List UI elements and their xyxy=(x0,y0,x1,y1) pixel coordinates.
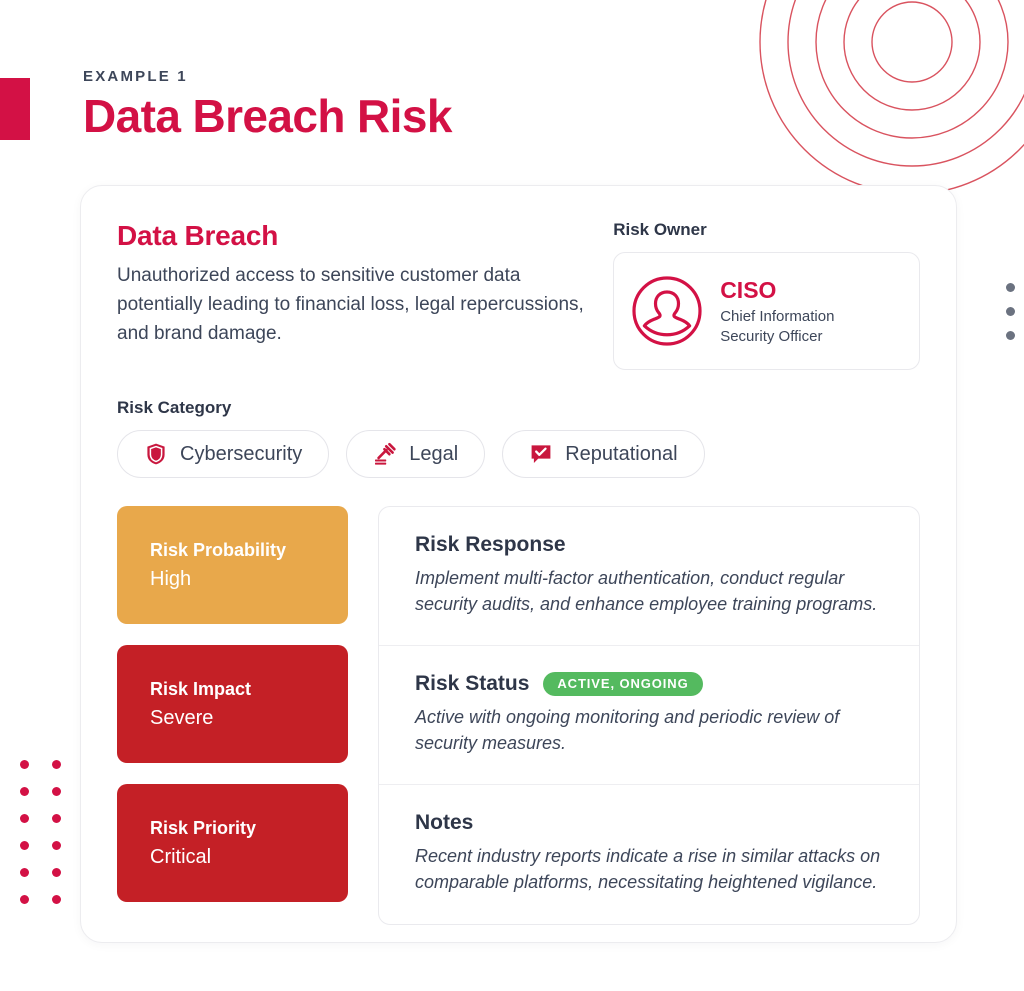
chip-reputational[interactable]: Reputational xyxy=(502,430,704,478)
detail-header: Notes xyxy=(415,811,883,835)
risk-category-label: Risk Category xyxy=(117,398,920,418)
risk-detail-row: Risk Probability High Risk Impact Severe… xyxy=(117,506,920,925)
shield-icon xyxy=(144,442,168,466)
risk-description-block: Data Breach Unauthorized access to sensi… xyxy=(117,214,585,348)
page-header: EXAMPLE 1 Data Breach Risk xyxy=(83,68,452,142)
tile-value: Critical xyxy=(150,846,315,869)
risk-card: Data Breach Unauthorized access to sensi… xyxy=(80,185,957,943)
chip-legal[interactable]: Legal xyxy=(346,430,485,478)
chip-label: Legal xyxy=(409,443,458,466)
chip-label: Cybersecurity xyxy=(180,443,302,466)
tile-label: Risk Impact xyxy=(150,679,315,700)
risk-detail-panel: Risk Response Implement multi-factor aut… xyxy=(378,506,920,925)
dot-column-decoration-right xyxy=(1006,283,1015,355)
detail-body: Recent industry reports indicate a rise … xyxy=(415,843,883,895)
risk-name: Data Breach xyxy=(117,220,585,252)
chip-cybersecurity[interactable]: Cybersecurity xyxy=(117,430,329,478)
risk-category-block: Risk Category Cybersecurity xyxy=(117,398,920,478)
tile-risk-probability: Risk Probability High xyxy=(117,506,348,624)
speech-bubble-check-icon xyxy=(529,442,553,466)
risk-owner-card[interactable]: CISO Chief Information Security Officer xyxy=(613,252,920,370)
dot-grid-decoration-left xyxy=(20,760,84,922)
chip-label: Reputational xyxy=(565,443,677,466)
detail-title: Notes xyxy=(415,811,473,835)
tile-value: Severe xyxy=(150,707,315,730)
detail-risk-status: Risk Status ACTIVE, ONGOING Active with … xyxy=(379,646,919,785)
concentric-rings-decoration xyxy=(752,0,1024,202)
risk-owner-block: Risk Owner CISO Chief Information Securi… xyxy=(613,214,920,370)
detail-header: Risk Response xyxy=(415,533,883,557)
page-title: Data Breach Risk xyxy=(83,92,452,142)
gavel-icon xyxy=(373,442,397,466)
tile-risk-impact: Risk Impact Severe xyxy=(117,645,348,763)
risk-owner-abbr: CISO xyxy=(720,278,834,303)
detail-header: Risk Status ACTIVE, ONGOING xyxy=(415,672,883,696)
detail-notes: Notes Recent industry reports indicate a… xyxy=(379,785,919,923)
user-circle-icon xyxy=(630,274,704,348)
risk-owner-meta: CISO Chief Information Security Officer xyxy=(720,276,834,347)
risk-category-chips: Cybersecurity Legal xyxy=(117,430,920,478)
detail-body: Active with ongoing monitoring and perio… xyxy=(415,704,883,756)
detail-body: Implement multi-factor authentication, c… xyxy=(415,565,883,617)
eyebrow-label: EXAMPLE 1 xyxy=(83,68,452,85)
tile-label: Risk Probability xyxy=(150,540,315,561)
detail-risk-response: Risk Response Implement multi-factor aut… xyxy=(379,507,919,646)
status-badge: ACTIVE, ONGOING xyxy=(543,672,702,696)
tile-label: Risk Priority xyxy=(150,818,315,839)
tile-risk-priority: Risk Priority Critical xyxy=(117,784,348,902)
risk-summary-row: Data Breach Unauthorized access to sensi… xyxy=(117,214,920,370)
accent-bar xyxy=(0,78,30,140)
detail-title: Risk Status xyxy=(415,672,529,696)
risk-owner-full-title: Chief Information Security Officer xyxy=(720,307,834,347)
risk-description: Unauthorized access to sensitive custome… xyxy=(117,261,585,348)
tile-value: High xyxy=(150,568,315,591)
risk-metric-tiles: Risk Probability High Risk Impact Severe… xyxy=(117,506,348,925)
detail-title: Risk Response xyxy=(415,533,566,557)
risk-example-page: EXAMPLE 1 Data Breach Risk Data Breach U… xyxy=(0,0,1024,991)
risk-owner-label: Risk Owner xyxy=(613,220,920,240)
